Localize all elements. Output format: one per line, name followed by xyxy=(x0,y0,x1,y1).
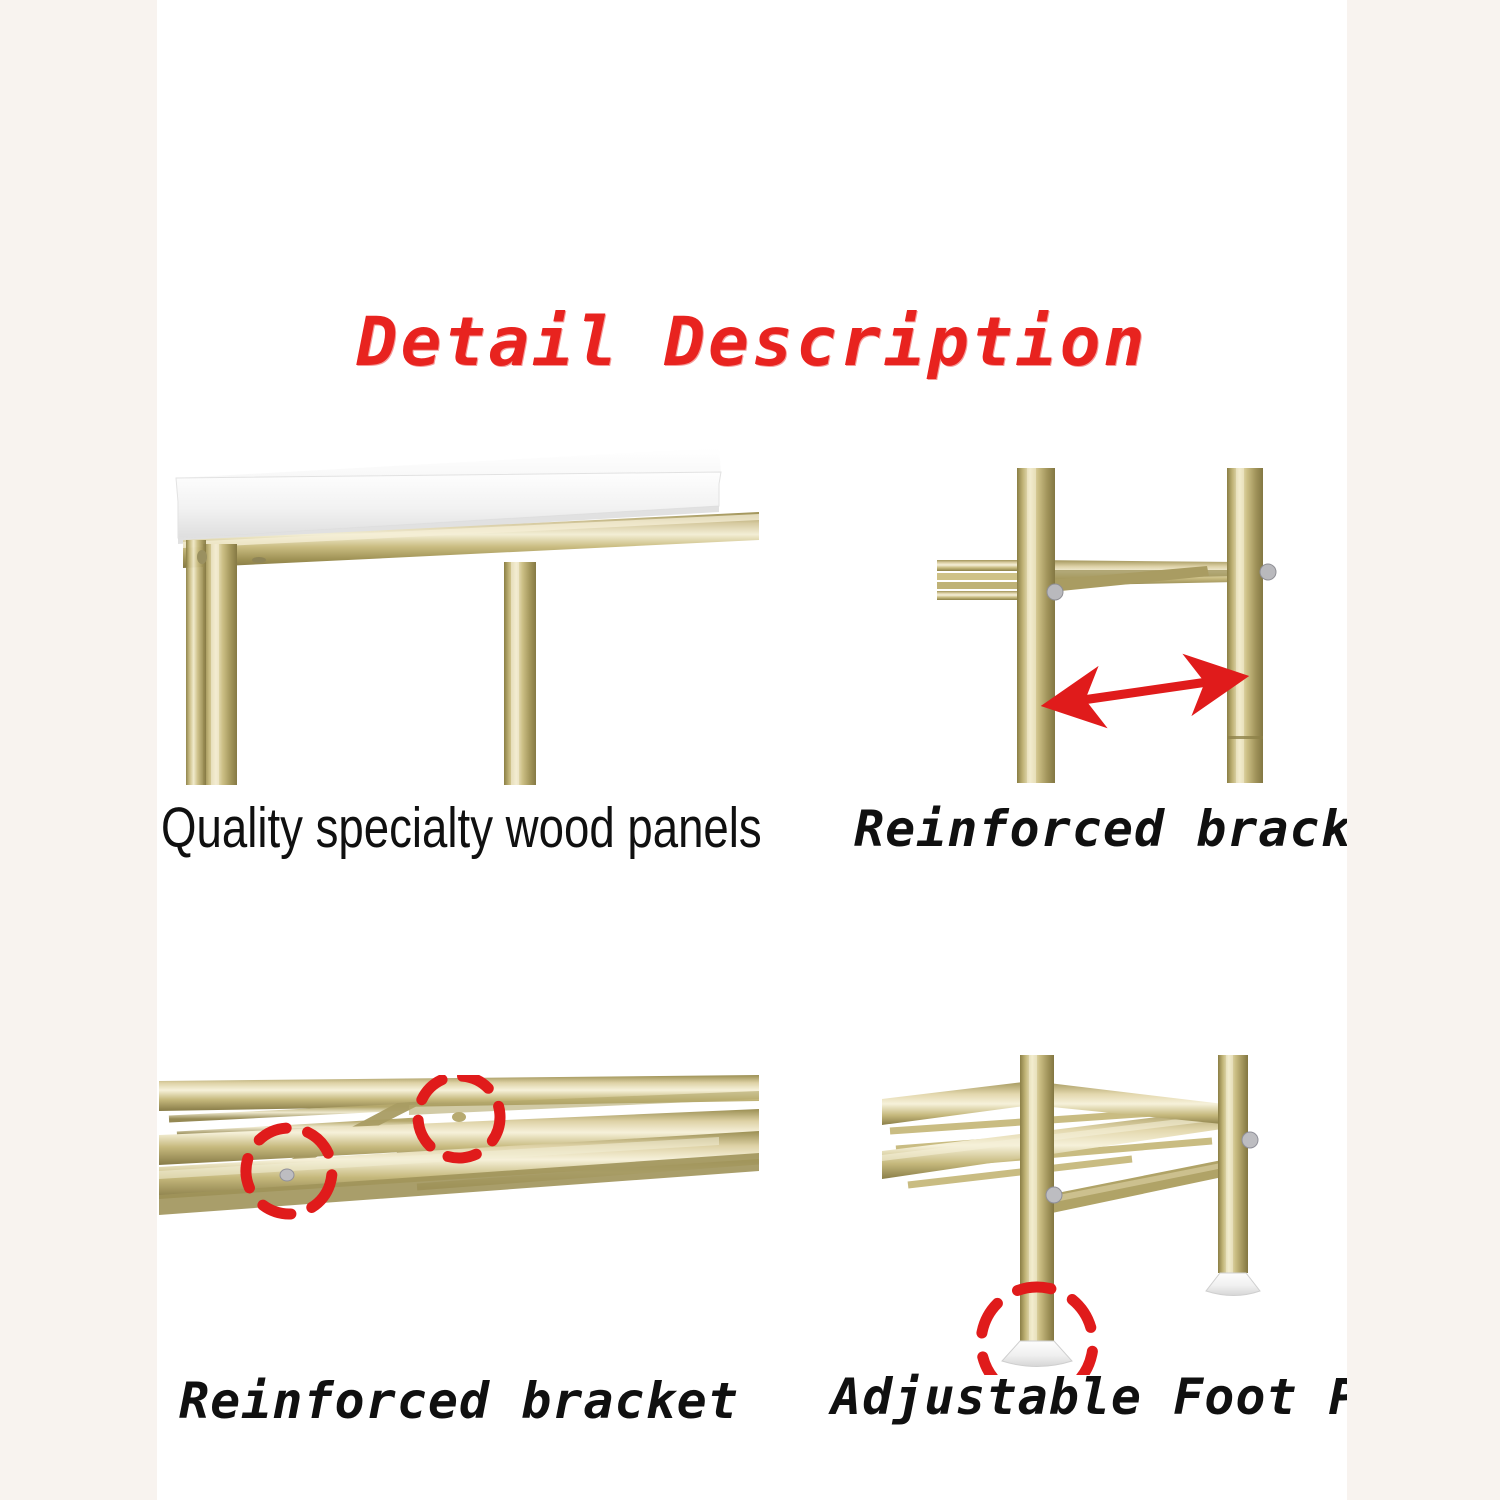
foot-pad-right xyxy=(1206,1273,1260,1296)
caption-reinforced-bracket-bottom: Reinforced bracket xyxy=(179,1372,739,1430)
page-title: Detail Description xyxy=(157,303,1347,382)
feature-image-adjustable-foot-pad xyxy=(882,1055,1302,1375)
feature-image-reinforced-bracket-top xyxy=(937,440,1337,785)
bracket-posts-illustration xyxy=(937,440,1337,785)
foot-pad-left xyxy=(1002,1341,1072,1367)
product-detail-image: Detail Description xyxy=(0,0,1500,1500)
feature-image-wood-panels xyxy=(159,440,759,785)
image-canvas: Detail Description xyxy=(157,0,1347,1500)
wire-shelf-illustration xyxy=(159,1075,759,1365)
foot-pad-illustration xyxy=(882,1055,1302,1375)
caption-adjustable-foot-pad: Adjustable Foot Pad xyxy=(831,1368,1347,1426)
tabletop-illustration xyxy=(159,440,759,785)
red-double-arrow-annotation xyxy=(1055,678,1235,704)
caption-reinforced-bracket-top: Reinforced bracket xyxy=(854,800,1347,858)
caption-wood-panels: Quality specialty wood panels xyxy=(161,795,762,861)
feature-image-reinforced-bracket-bottom xyxy=(159,1075,759,1365)
